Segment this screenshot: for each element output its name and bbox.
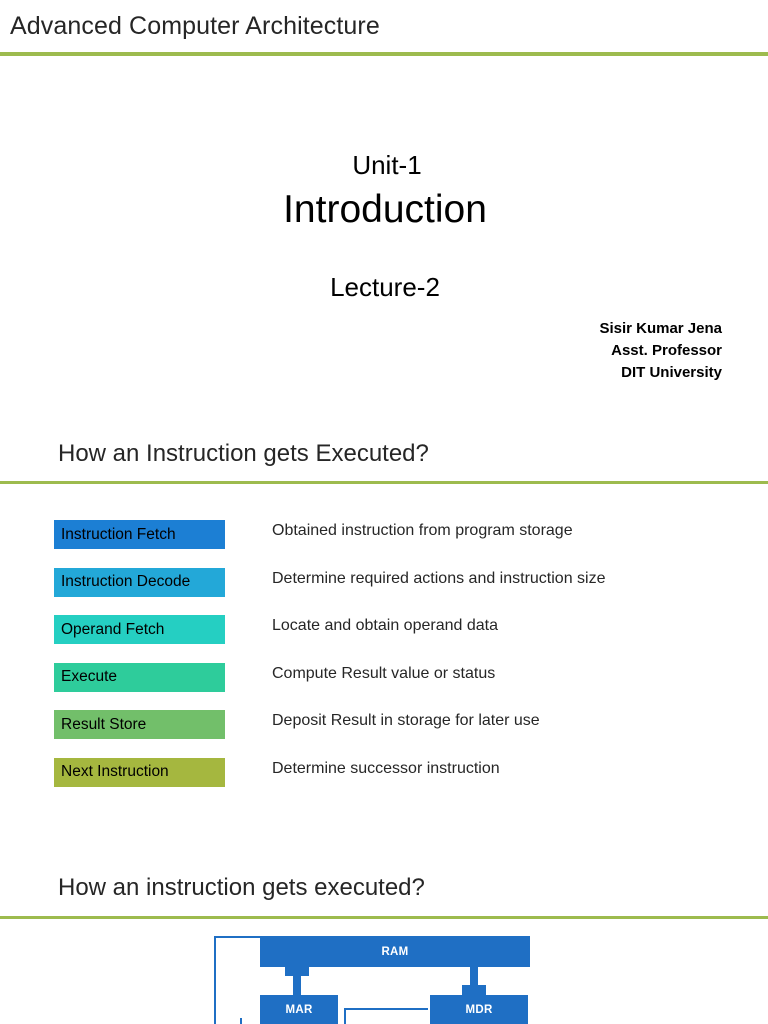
slide-instruction-stages: How an Instruction gets Executed? Instru… <box>0 396 768 828</box>
connector-mar-mdr <box>344 1008 428 1010</box>
stage-desc-instruction-decode: Determine required actions and instructi… <box>272 570 606 588</box>
stage-box-next-instruction: Next Instruction <box>54 758 225 787</box>
stage-desc-execute: Compute Result value or status <box>272 665 495 683</box>
stage-desc-operand-fetch: Locate and obtain operand data <box>272 617 498 635</box>
connector-ram-left-vertical <box>214 936 216 1024</box>
diagram-block-ram: RAM <box>260 936 530 967</box>
list-item: Next Instruction Determine successor ins… <box>54 758 754 806</box>
slide-title: Advanced Computer Architecture Unit-1 In… <box>0 0 768 396</box>
list-item: Instruction Fetch Obtained instruction f… <box>54 520 754 568</box>
lecture-label: Lecture-2 <box>0 272 768 303</box>
stage-desc-result-store: Deposit Result in storage for later use <box>272 712 540 730</box>
block-diagram: RAM MAR MDR <box>0 928 768 1024</box>
connector-mar-down <box>344 1008 346 1024</box>
stage-box-execute: Execute <box>54 663 225 692</box>
arrowhead-ram-to-mdr <box>462 985 486 995</box>
slide2-divider <box>0 481 768 484</box>
stage-box-operand-fetch: Operand Fetch <box>54 615 225 644</box>
course-title: Advanced Computer Architecture <box>10 12 380 41</box>
unit-label: Unit-1 <box>0 150 768 181</box>
stage-box-instruction-decode: Instruction Decode <box>54 568 225 597</box>
slide-main-title: Introduction <box>0 188 768 232</box>
list-item: Instruction Decode Determine required ac… <box>54 568 754 616</box>
stage-desc-instruction-fetch: Obtained instruction from program storag… <box>272 522 573 540</box>
connector-left-down <box>240 1018 242 1024</box>
arrowhead-mar-to-ram <box>285 967 309 976</box>
header-divider <box>0 52 768 56</box>
slide-execution-diagram: How an instruction gets executed? RAM MA… <box>0 828 768 1024</box>
author-name: Sisir Kumar Jena <box>599 318 722 340</box>
author-block: Sisir Kumar Jena Asst. Professor DIT Uni… <box>599 318 722 384</box>
slide3-divider <box>0 916 768 919</box>
stage-list: Instruction Fetch Obtained instruction f… <box>54 520 754 805</box>
author-designation: Asst. Professor <box>599 340 722 362</box>
list-item: Execute Compute Result value or status <box>54 663 754 711</box>
slide3-heading: How an instruction gets executed? <box>58 874 425 902</box>
list-item: Operand Fetch Locate and obtain operand … <box>54 615 754 663</box>
slide2-heading: How an Instruction gets Executed? <box>58 440 429 468</box>
stage-box-result-store: Result Store <box>54 710 225 739</box>
connector-ram-left-horizontal <box>214 936 262 938</box>
author-institution: DIT University <box>599 362 722 384</box>
stage-desc-next-instruction: Determine successor instruction <box>272 760 500 778</box>
diagram-block-mdr: MDR <box>430 995 528 1024</box>
stage-box-instruction-fetch: Instruction Fetch <box>54 520 225 549</box>
diagram-block-mar: MAR <box>260 995 338 1024</box>
list-item: Result Store Deposit Result in storage f… <box>54 710 754 758</box>
